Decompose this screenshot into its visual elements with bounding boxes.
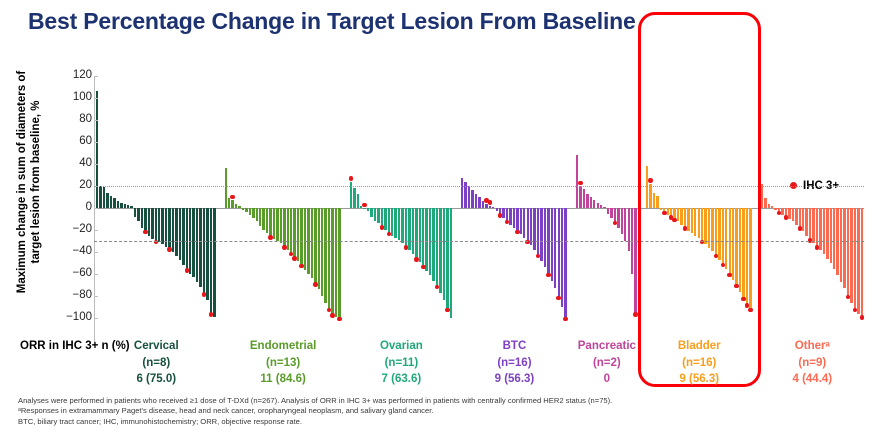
- y-tick-label: −60: [46, 267, 92, 279]
- bar: [788, 208, 790, 219]
- bar: [694, 208, 696, 236]
- bar: [795, 208, 797, 225]
- bar: [830, 208, 832, 263]
- ihc3-marker-dot: [362, 203, 367, 208]
- group-name: Cervical: [96, 338, 216, 355]
- bar: [113, 198, 115, 208]
- bar: [353, 188, 355, 208]
- bar: [335, 208, 337, 317]
- bar: [471, 190, 473, 208]
- bar: [735, 208, 737, 285]
- bar: [687, 208, 689, 231]
- bar: [367, 208, 369, 211]
- bar: [175, 208, 177, 256]
- group-n: (n=11): [341, 355, 461, 372]
- bar: [446, 208, 448, 309]
- bar: [196, 208, 198, 282]
- ihc3-marker-dot: [330, 313, 335, 318]
- bar: [513, 208, 515, 228]
- bar: [415, 208, 417, 259]
- bar: [443, 208, 445, 300]
- y-tick-label: 0: [46, 201, 92, 213]
- bar: [537, 208, 539, 255]
- ihc3-marker-dot: [578, 181, 583, 186]
- bar: [151, 208, 153, 239]
- y-tick-mark: [94, 98, 98, 99]
- y-tick-mark: [94, 252, 98, 253]
- bar: [179, 208, 181, 260]
- y-tick-label: −100: [46, 311, 92, 323]
- group-name: Bladder: [639, 338, 759, 355]
- ihc3-marker-dot: [488, 200, 493, 205]
- y-tick-mark: [94, 142, 98, 143]
- y-tick-label: 60: [46, 135, 92, 147]
- bar: [610, 208, 612, 218]
- y-tick-label: 100: [46, 91, 92, 103]
- bar: [603, 207, 605, 208]
- bar: [554, 208, 556, 288]
- bar: [374, 208, 376, 221]
- bar: [249, 208, 251, 215]
- bar: [127, 205, 129, 208]
- bar: [649, 184, 651, 208]
- bar: [564, 208, 566, 318]
- table-column-endometrial: Endometrial(n=13)11 (84.6): [223, 338, 343, 388]
- bar: [597, 203, 599, 209]
- bar: [677, 208, 679, 221]
- bar: [419, 208, 421, 262]
- bar: [256, 208, 258, 221]
- bar: [432, 208, 434, 281]
- bar: [363, 208, 365, 209]
- y-tick-mark: [94, 318, 98, 319]
- bar: [850, 208, 852, 303]
- bar: [718, 208, 720, 260]
- summary-table: ORR in IHC 3+ n (%) Cervical(n=8)6 (75.0…: [0, 338, 876, 396]
- bar: [749, 208, 751, 309]
- ihc3-marker-dot: [414, 257, 419, 262]
- bar: [314, 208, 316, 284]
- y-tick-mark: [94, 208, 98, 209]
- bar: [186, 208, 188, 270]
- bar: [621, 208, 623, 234]
- bar: [99, 186, 101, 208]
- ihc3-marker-dot: [299, 264, 304, 269]
- group-orr: 11 (84.6): [223, 371, 343, 388]
- bar: [228, 198, 230, 208]
- ihc3-marker-dot: [313, 282, 318, 287]
- bar: [857, 208, 859, 314]
- bar: [259, 208, 261, 226]
- ihc3-marker-dot: [268, 235, 273, 240]
- bar: [540, 208, 542, 261]
- page-title: Best Percentage Change in Target Lesion …: [28, 8, 636, 35]
- ihc3-marker-dot: [546, 273, 551, 278]
- footnote-3: BTC, biliary tract cancer; IHC, immunohi…: [18, 417, 868, 427]
- group-orr: 4 (44.4): [752, 371, 872, 388]
- bar: [245, 208, 247, 212]
- bar: [809, 208, 811, 240]
- bar: [321, 208, 323, 296]
- bar: [370, 208, 372, 217]
- table-column-cervical: Cervical(n=8)6 (75.0): [96, 338, 216, 388]
- row-label-1: ORR in: [20, 340, 59, 352]
- bar: [324, 208, 326, 303]
- bar: [653, 193, 655, 208]
- y-tick-label: −40: [46, 245, 92, 257]
- bar: [117, 201, 119, 208]
- group-orr: 6 (75.0): [96, 371, 216, 388]
- bar: [722, 208, 724, 264]
- bar: [461, 178, 463, 208]
- bar: [478, 197, 480, 208]
- bar: [338, 208, 340, 318]
- bar: [792, 208, 794, 221]
- group-n: (n=8): [96, 355, 216, 372]
- row-label-2: IHC 3+: [62, 340, 98, 352]
- y-tick-mark: [94, 274, 98, 275]
- bar: [725, 208, 727, 269]
- ihc3-marker-dot: [748, 308, 753, 313]
- table-column-ovarian: Ovarian(n=11)7 (63.6): [341, 338, 461, 388]
- bar: [544, 208, 546, 267]
- bar: [412, 208, 414, 254]
- bar: [551, 208, 553, 281]
- bar: [509, 208, 511, 225]
- bar: [698, 208, 700, 238]
- bar: [527, 208, 529, 241]
- bar: [328, 208, 330, 309]
- bar: [398, 208, 400, 240]
- bar: [586, 194, 588, 208]
- bar: [311, 208, 313, 278]
- reference-line-20: [94, 186, 864, 187]
- group-n: (n=9): [752, 355, 872, 372]
- bar: [492, 207, 494, 208]
- ihc3-marker-dot: [727, 273, 732, 278]
- ihc3-marker-dot: [741, 297, 746, 302]
- bar: [607, 208, 609, 214]
- bar: [103, 187, 105, 208]
- bar: [742, 208, 744, 298]
- ihc3-marker-dot: [563, 317, 568, 322]
- bar: [252, 208, 254, 218]
- bar: [502, 208, 504, 218]
- bar: [617, 208, 619, 228]
- bar: [273, 208, 275, 239]
- ihc3-marker-dot: [515, 230, 520, 235]
- ihc3-marker-dot: [380, 225, 385, 230]
- ihc3-marker-dot: [143, 230, 148, 235]
- bar: [715, 208, 717, 255]
- bar: [158, 208, 160, 242]
- waterfall-chart: Maximum change in sum of diameters of ta…: [0, 60, 876, 345]
- bar: [238, 206, 240, 208]
- y-tick-label: 80: [46, 113, 92, 125]
- bar: [799, 208, 801, 228]
- bar: [667, 208, 669, 215]
- ihc3-marker-dot: [209, 312, 214, 317]
- y-axis-ticks: 120100806040200−20−40−60−80−100: [0, 60, 92, 345]
- bar: [231, 200, 233, 208]
- bar: [590, 197, 592, 208]
- bar: [711, 208, 713, 251]
- bar: [280, 208, 282, 243]
- ihc3-marker-dot: [815, 245, 820, 250]
- bar: [781, 208, 783, 215]
- ihc3-marker-dot: [230, 195, 235, 200]
- bar: [394, 208, 396, 238]
- bar: [774, 208, 776, 210]
- ihc3-marker-dot: [734, 284, 739, 289]
- bar: [600, 205, 602, 208]
- bar: [475, 194, 477, 208]
- ihc3-marker-dot: [683, 226, 688, 231]
- bar: [436, 208, 438, 286]
- bar: [805, 208, 807, 236]
- ihc3-marker-dot: [292, 256, 297, 261]
- bar: [384, 208, 386, 230]
- reference-line--30: [94, 241, 864, 242]
- bar: [276, 208, 278, 241]
- bar: [203, 208, 205, 294]
- bar: [646, 166, 648, 208]
- bar: [854, 208, 856, 309]
- ihc3-marker-dot: [556, 296, 561, 301]
- bar: [579, 186, 581, 208]
- bar: [269, 208, 271, 237]
- bar: [833, 208, 835, 269]
- bar: [144, 208, 146, 231]
- bar: [819, 208, 821, 250]
- bar: [262, 208, 264, 230]
- bar: [130, 206, 132, 208]
- bar: [141, 208, 143, 228]
- bar: [331, 208, 333, 315]
- bar: [304, 208, 306, 270]
- group-n: (n=16): [639, 355, 759, 372]
- bar: [847, 208, 849, 296]
- table-column-bladder: Bladder(n=16)9 (56.3): [639, 338, 759, 388]
- footnote-2: ᵃResponses in extramammary Paget's disea…: [18, 406, 868, 416]
- ihc3-marker-dot: [777, 211, 782, 216]
- ihc3-marker-dot: [498, 213, 503, 218]
- bar: [425, 208, 427, 271]
- bar: [660, 208, 662, 210]
- bar: [172, 208, 174, 252]
- bar: [656, 196, 658, 208]
- bar: [771, 206, 773, 208]
- bar: [137, 208, 139, 221]
- bar: [422, 208, 424, 266]
- bar: [242, 208, 244, 210]
- y-tick-label: 20: [46, 179, 92, 191]
- ihc3-marker-dot: [421, 265, 426, 270]
- bar: [680, 208, 682, 225]
- ihc3-marker-dot: [202, 292, 207, 297]
- bar: [225, 168, 227, 208]
- bar: [388, 208, 390, 233]
- bar: [96, 91, 98, 208]
- ihc3-marker-dot: [349, 176, 354, 181]
- bar: [106, 193, 108, 208]
- group-name: Ovarian: [341, 338, 461, 355]
- bar: [561, 208, 563, 307]
- ihc3-marker-dot: [721, 263, 726, 268]
- bar: [520, 208, 522, 234]
- y-tick-mark: [94, 230, 98, 231]
- ihc3-marker-dot: [404, 245, 409, 250]
- bar: [861, 208, 863, 317]
- bar: [293, 208, 295, 258]
- bar: [802, 208, 804, 231]
- footnotes: Analyses were performed in patients who …: [18, 396, 868, 427]
- bar: [739, 208, 741, 292]
- bar: [124, 204, 126, 208]
- bar: [684, 208, 686, 228]
- bar: [199, 208, 201, 287]
- bar: [401, 208, 403, 243]
- y-tick-mark: [94, 120, 98, 121]
- bar: [182, 208, 184, 265]
- bar: [624, 208, 626, 241]
- ihc3-marker-dot: [798, 226, 803, 231]
- bar: [523, 208, 525, 238]
- bar: [357, 194, 359, 208]
- ihc3-marker-dot: [860, 315, 865, 320]
- bar: [485, 204, 487, 208]
- bar: [391, 208, 393, 236]
- ihc3-marker-dot: [167, 247, 172, 252]
- bar: [761, 184, 763, 208]
- ihc3-marker-dot: [445, 308, 450, 313]
- y-tick-mark: [94, 164, 98, 165]
- bar: [381, 208, 383, 227]
- bar: [134, 208, 136, 217]
- bar: [843, 208, 845, 288]
- bar: [300, 208, 302, 265]
- bar: [450, 208, 452, 318]
- y-tick-label: 120: [46, 69, 92, 81]
- bar: [530, 208, 532, 245]
- bar: [826, 208, 828, 259]
- ihc3-marker-dot: [784, 215, 789, 220]
- bar: [155, 208, 157, 241]
- bars-container: [94, 60, 874, 345]
- bar: [489, 206, 491, 208]
- bar: [318, 208, 320, 289]
- table-column-other: Otherᵃ(n=9)4 (44.4): [752, 338, 872, 388]
- bar: [468, 186, 470, 208]
- ihc3-marker-dot: [282, 245, 287, 250]
- bar: [287, 208, 289, 250]
- y-tick-label: 40: [46, 157, 92, 169]
- bar: [768, 204, 770, 208]
- bar: [377, 208, 379, 223]
- bar: [558, 208, 560, 297]
- bar: [192, 208, 194, 277]
- group-name: Otherᵃ: [752, 338, 872, 355]
- bar: [840, 208, 842, 282]
- ihc3-marker-dot: [662, 211, 667, 216]
- y-tick-label: −20: [46, 223, 92, 235]
- bar: [812, 208, 814, 243]
- ihc3-marker-dot: [185, 268, 190, 273]
- bar: [593, 200, 595, 208]
- ihc3-marker-dot: [648, 178, 653, 183]
- ihc3-marker-dot: [387, 232, 392, 237]
- bar: [439, 208, 441, 293]
- bar: [533, 208, 535, 250]
- bar: [701, 208, 703, 241]
- bar: [746, 208, 748, 305]
- y-tick-label: −80: [46, 289, 92, 301]
- bar: [704, 208, 706, 244]
- ihc3-marker-dot: [672, 218, 677, 223]
- bar: [516, 208, 518, 231]
- bar: [148, 208, 150, 236]
- ihc3-marker-dot: [337, 317, 342, 322]
- bar: [168, 208, 170, 249]
- group-name: Endometrial: [223, 338, 343, 355]
- y-tick-mark: [94, 296, 98, 297]
- group-orr: 7 (63.6): [341, 371, 461, 388]
- bar: [823, 208, 825, 254]
- ihc3-marker-dot: [633, 312, 638, 317]
- footnote-1: Analyses were performed in patients who …: [18, 396, 868, 406]
- bar: [210, 208, 212, 314]
- y-tick-mark: [94, 76, 98, 77]
- bar: [206, 208, 208, 300]
- bar: [213, 208, 215, 317]
- bar: [120, 203, 122, 209]
- bar: [634, 208, 636, 314]
- bar: [266, 208, 268, 233]
- bar: [110, 196, 112, 208]
- bar: [764, 198, 766, 208]
- bar: [290, 208, 292, 253]
- bar: [161, 208, 163, 244]
- bar: [732, 208, 734, 280]
- group-n: (n=13): [223, 355, 343, 372]
- bar: [628, 208, 630, 251]
- bar: [408, 208, 410, 250]
- bar: [496, 208, 498, 211]
- bar: [583, 189, 585, 208]
- group-orr: 9 (56.3): [639, 371, 759, 388]
- bar: [691, 208, 693, 233]
- bar: [235, 204, 237, 208]
- bar: [297, 208, 299, 261]
